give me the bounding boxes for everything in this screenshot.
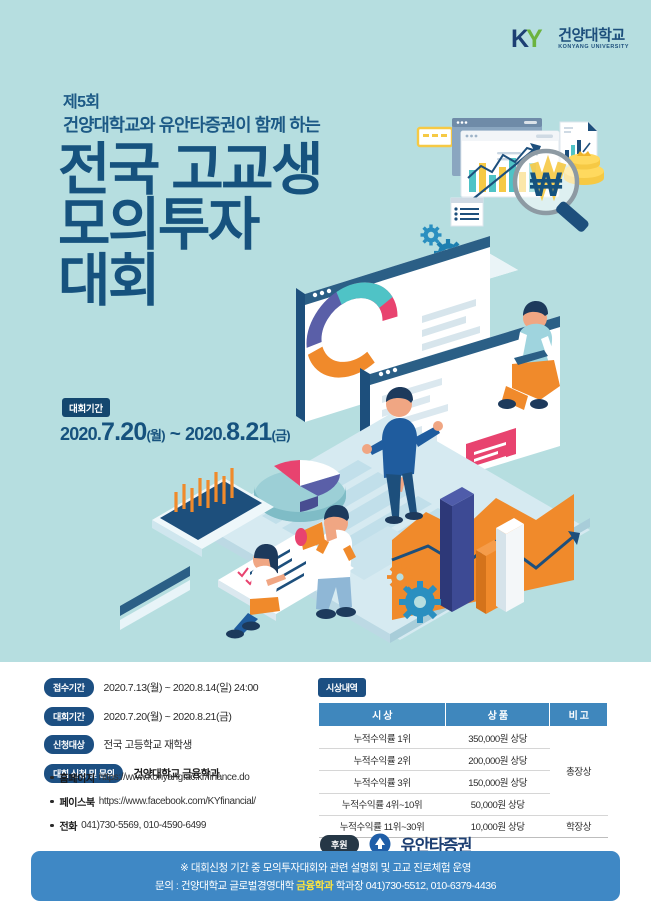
- info-label-application-period: 접수기간: [44, 678, 94, 697]
- contact-list: 홈페이지 https://www.konyang.ac.kr/finance.d…: [50, 770, 256, 842]
- person-presenter: [362, 387, 443, 524]
- date-end-dow: (금): [272, 425, 290, 444]
- table-header-prize: 시 상: [319, 703, 446, 727]
- megaphone-icon: [295, 522, 337, 550]
- poster-hero: ₩: [0, 0, 651, 662]
- contact-row-homepage[interactable]: 홈페이지 https://www.konyang.ac.kr/finance.d…: [50, 770, 256, 785]
- footer-bar: ※ 대회신청 기간 중 모의투자대회와 관련 설명회 및 고교 진로체험 운영 …: [31, 851, 620, 901]
- person-sitting: [498, 301, 560, 410]
- table-header-row: 시 상 상 품 비 고: [319, 703, 608, 727]
- tablet-bar-chart: [152, 468, 274, 557]
- table-header-remark: 비 고: [550, 703, 608, 727]
- footer-line2-highlight: 금융학과: [296, 880, 333, 892]
- trend-arrow: [452, 148, 536, 216]
- dashboard-screen-back: [296, 236, 490, 422]
- info-row: 신청대상 전국 고등학교 재학생: [44, 735, 306, 754]
- area-chart-orange: [392, 494, 580, 620]
- info-value-eligibility: 전국 고등학교 재학생: [104, 737, 192, 752]
- contact-value-phone[interactable]: 041)730-5569, 010-4590-6499: [81, 820, 206, 831]
- svg-text:₩: ₩: [530, 166, 563, 204]
- poster-root: ₩: [0, 0, 651, 920]
- date-start-year: 2020.: [60, 424, 101, 445]
- coins-icon: [564, 151, 604, 185]
- info-value-contest-period: 2020.7.20(월) ~ 2020.8.21(금): [104, 709, 232, 724]
- cell-amount: 350,000원 상당: [446, 727, 550, 749]
- date-end-md: 8.21: [226, 418, 271, 447]
- info-value-application-period: 2020.7.13(월) ~ 2020.8.14(일) 24:00: [104, 680, 259, 695]
- gear-icon-bottom: [387, 564, 441, 623]
- contact-value-facebook[interactable]: https://www.facebook.com/KYfinancial/: [99, 796, 256, 807]
- cell-remark-presidential: 총장상: [550, 727, 608, 816]
- university-logo: K Y 건양대학교 KONYANG UNIVERSITY: [511, 26, 629, 52]
- date-separator: ~: [165, 424, 185, 446]
- info-row: 접수기간 2020.7.13(월) ~ 2020.8.14(일) 24:00: [44, 678, 306, 697]
- svg-text:Y: Y: [526, 26, 543, 52]
- magnifier-won-icon: ₩: [515, 151, 590, 233]
- cell-prize: 누적수익률 1위: [319, 727, 446, 749]
- person-megaphone: [295, 505, 356, 619]
- university-name-kr: 건양대학교: [558, 28, 629, 43]
- tag-icon: [418, 128, 452, 146]
- dashboard-screen-front: [360, 316, 560, 504]
- cell-prize: 누적수익률 3위: [319, 771, 446, 793]
- bar-blocks-3d: [440, 487, 524, 614]
- subtitle: 건양대학교와 유안타증권이 함께 하는: [63, 112, 320, 137]
- contact-value-homepage[interactable]: https://www.konyang.ac.kr/finance.do: [99, 772, 250, 783]
- browser-window-chart: [461, 131, 559, 197]
- papers-stack: [120, 566, 190, 630]
- date-start-dow: (월): [147, 425, 165, 444]
- gear-icon-small: [421, 225, 463, 268]
- list-card-icon: [451, 198, 483, 226]
- university-name-block: 건양대학교 KONYANG UNIVERSITY: [558, 28, 629, 51]
- person-seated-girl: [226, 544, 286, 639]
- contact-label-facebook: 페이스북: [60, 794, 95, 809]
- contact-label-homepage: 홈페이지: [60, 770, 95, 785]
- cell-prize: 누적수익률 2위: [319, 749, 446, 771]
- footer-line2-post: 학과장 041)730-5512, 010-6379-4436: [333, 880, 496, 892]
- report-card: [560, 122, 597, 165]
- bullet-icon: [50, 800, 54, 804]
- contest-period-dates: 2020. 7.20 (월) ~ 2020. 8.21 (금): [60, 418, 290, 447]
- cell-amount: 200,000원 상당: [446, 749, 550, 771]
- cell-amount: 50,000원 상당: [446, 793, 550, 815]
- cell-prize: 누적수익률 4위~10위: [319, 793, 446, 815]
- footer-line-2: 문의 : 건양대학교 글로벌경영대학 금융학과 학과장 041)730-5512…: [155, 878, 496, 893]
- info-row: 대회기간 2020.7.20(월) ~ 2020.8.21(금): [44, 707, 306, 726]
- edition-label: 제5회: [63, 88, 100, 112]
- date-end-year: 2020.: [185, 424, 226, 445]
- award-badge: 시상내역: [318, 678, 366, 697]
- bullet-icon: [50, 776, 54, 780]
- date-start-md: 7.20: [101, 418, 146, 447]
- footer-line2-pre: 문의 : 건양대학교 글로벌경영대학: [155, 880, 296, 892]
- university-name-en: KONYANG UNIVERSITY: [558, 45, 629, 50]
- info-label-eligibility: 신청대상: [44, 735, 94, 754]
- page-title: 전국 고교생 모의투자 대회: [58, 143, 321, 309]
- chat-bubble-icon: [466, 428, 516, 470]
- pie-chart-3d: [254, 460, 346, 522]
- table-row: 누적수익률 1위 350,000원 상당 총장상: [319, 727, 608, 749]
- cell-remark-dean: 학장상: [550, 815, 608, 837]
- ky-logo-icon: K Y: [511, 26, 551, 52]
- bullet-icon: [50, 824, 54, 828]
- contact-row-facebook[interactable]: 페이스북 https://www.facebook.com/KYfinancia…: [50, 794, 256, 809]
- contact-label-phone: 전화: [60, 818, 78, 833]
- contact-row-phone[interactable]: 전화 041)730-5569, 010-4590-6499: [50, 818, 256, 833]
- cell-amount: 150,000원 상당: [446, 771, 550, 793]
- award-section: 시상내역 시 상 상 품 비 고 누적수익률 1위 350,000원 상당 총장…: [318, 678, 610, 838]
- footer-line-1: ※ 대회신청 기간 중 모의투자대회와 관련 설명회 및 고교 진로체험 운영: [180, 860, 471, 875]
- award-table: 시 상 상 품 비 고 누적수익률 1위 350,000원 상당 총장상 누적수…: [318, 702, 608, 838]
- browser-window-back: [452, 118, 542, 176]
- table-header-amount: 상 품: [446, 703, 550, 727]
- laptop-base: [200, 414, 590, 643]
- document-sheet: [218, 534, 354, 621]
- contest-period-badge: 대회기간: [62, 398, 110, 417]
- info-label-contest-period: 대회기간: [44, 707, 94, 726]
- floating-window-small: [420, 248, 518, 288]
